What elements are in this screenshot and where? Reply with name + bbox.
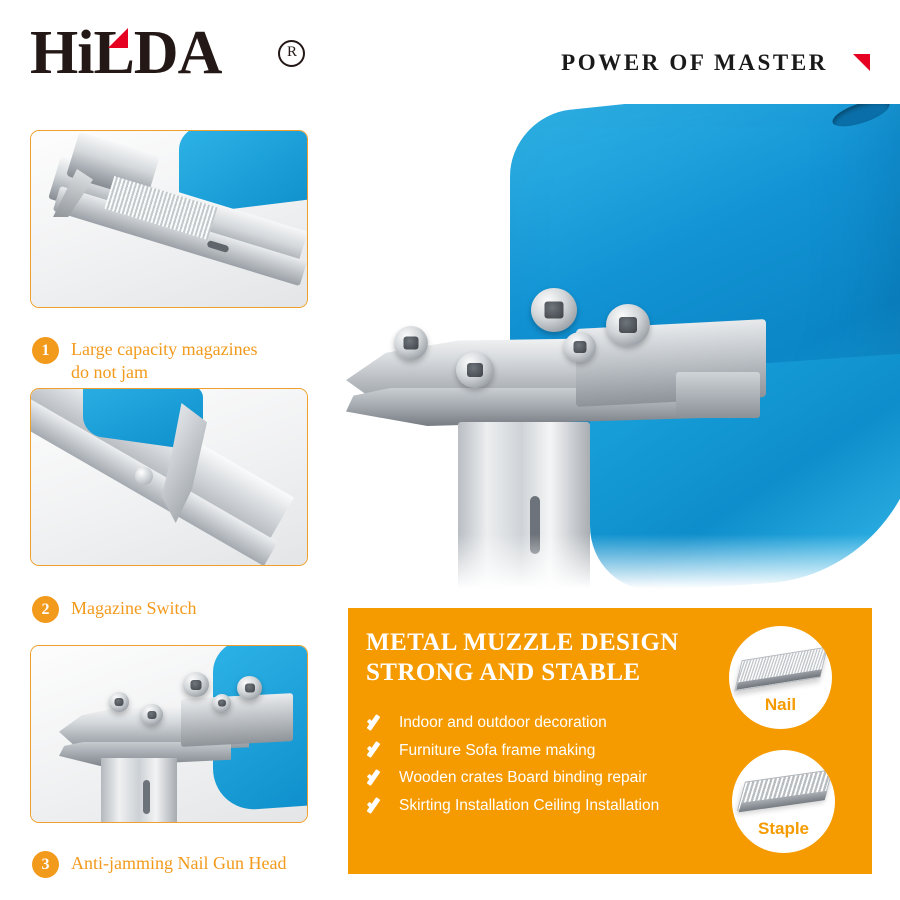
- brand-logo: HiLDA R: [30, 22, 221, 84]
- hex-bolt-icon: [606, 304, 650, 346]
- feature-number-badge-2: 2: [32, 596, 59, 623]
- panel-bullet-label: Skirting Installation Ceiling Installati…: [399, 797, 659, 816]
- feature-caption-3: 3 Anti-jamming Nail Gun Head: [32, 851, 286, 878]
- thumb2-pivot-pin: [135, 467, 153, 485]
- logo-red-triangle-icon: [108, 28, 128, 48]
- thumb3-muzzle-arm: [181, 693, 293, 747]
- product-infographic-page: HiLDA R POWER OF MASTER: [0, 0, 900, 900]
- nail-badge-label: Nail: [729, 695, 832, 715]
- staple-strip-image: [741, 772, 827, 816]
- metal-muzzle-feature-panel: METAL MUZZLE DESIGN STRONG AND STABLE In…: [348, 608, 872, 874]
- page-header: HiLDA R POWER OF MASTER: [0, 0, 900, 108]
- feature-label-2: Magazine Switch: [71, 596, 196, 620]
- check-icon: [366, 742, 388, 759]
- check-icon: [366, 770, 388, 787]
- feature-thumbnail-2: [30, 388, 308, 566]
- panel-bullet-item: Wooden crates Board binding repair: [366, 769, 716, 788]
- hero-bottom-fade: [338, 534, 900, 604]
- panel-bullet-label: Indoor and outdoor decoration: [399, 714, 607, 733]
- panel-heading: METAL MUZZLE DESIGN STRONG AND STABLE: [366, 628, 696, 687]
- hex-bolt-icon: [564, 332, 596, 362]
- check-icon: [366, 798, 388, 815]
- feature-caption-1: 1 Large capacity magazines do not jam: [32, 337, 258, 384]
- thumb3-driver-shaft: [101, 758, 177, 823]
- feature-number-badge-1: 1: [32, 337, 59, 364]
- hex-bolt-icon: [183, 672, 209, 697]
- panel-bullet-label: Wooden crates Board binding repair: [399, 769, 647, 788]
- consumable-badge-nail: Nail: [729, 626, 832, 729]
- panel-bullet-item: Furniture Sofa frame making: [366, 742, 716, 761]
- hex-bolt-icon: [141, 704, 163, 725]
- feature-label-1: Large capacity magazines do not jam: [71, 337, 258, 384]
- panel-bullet-item: Skirting Installation Ceiling Installati…: [366, 797, 716, 816]
- panel-bullet-list: Indoor and outdoor decoration Furniture …: [366, 714, 716, 824]
- panel-bullet-label: Furniture Sofa frame making: [399, 742, 595, 761]
- feature-number-badge-3: 3: [32, 851, 59, 878]
- hex-bolt-icon: [456, 352, 494, 388]
- hex-bolt-icon: [237, 676, 262, 700]
- feature-caption-2: 2 Magazine Switch: [32, 596, 196, 623]
- header-tagline: POWER OF MASTER: [561, 50, 828, 76]
- check-icon: [366, 715, 388, 732]
- muzzle-clip: [676, 372, 760, 418]
- feature-thumbnail-3: [30, 645, 308, 823]
- hex-bolt-icon: [394, 326, 428, 360]
- brand-logo-text: HiLDA R: [30, 22, 221, 84]
- tagline-red-triangle-icon: [853, 54, 870, 71]
- hex-bolt-icon: [213, 694, 231, 712]
- feature-thumbnail-1: [30, 130, 308, 308]
- panel-bullet-item: Indoor and outdoor decoration: [366, 714, 716, 733]
- hex-bolt-icon: [109, 692, 129, 712]
- hero-muzzle-assembly: [346, 302, 766, 442]
- hero-product-image: [338, 104, 900, 604]
- staple-badge-label: Staple: [732, 819, 835, 839]
- registered-trademark-icon: R: [278, 40, 305, 67]
- nail-strip-image: [738, 648, 824, 692]
- hex-bolt-icon: [531, 288, 577, 332]
- consumable-badge-staple: Staple: [732, 750, 835, 853]
- feature-label-3: Anti-jamming Nail Gun Head: [71, 851, 286, 875]
